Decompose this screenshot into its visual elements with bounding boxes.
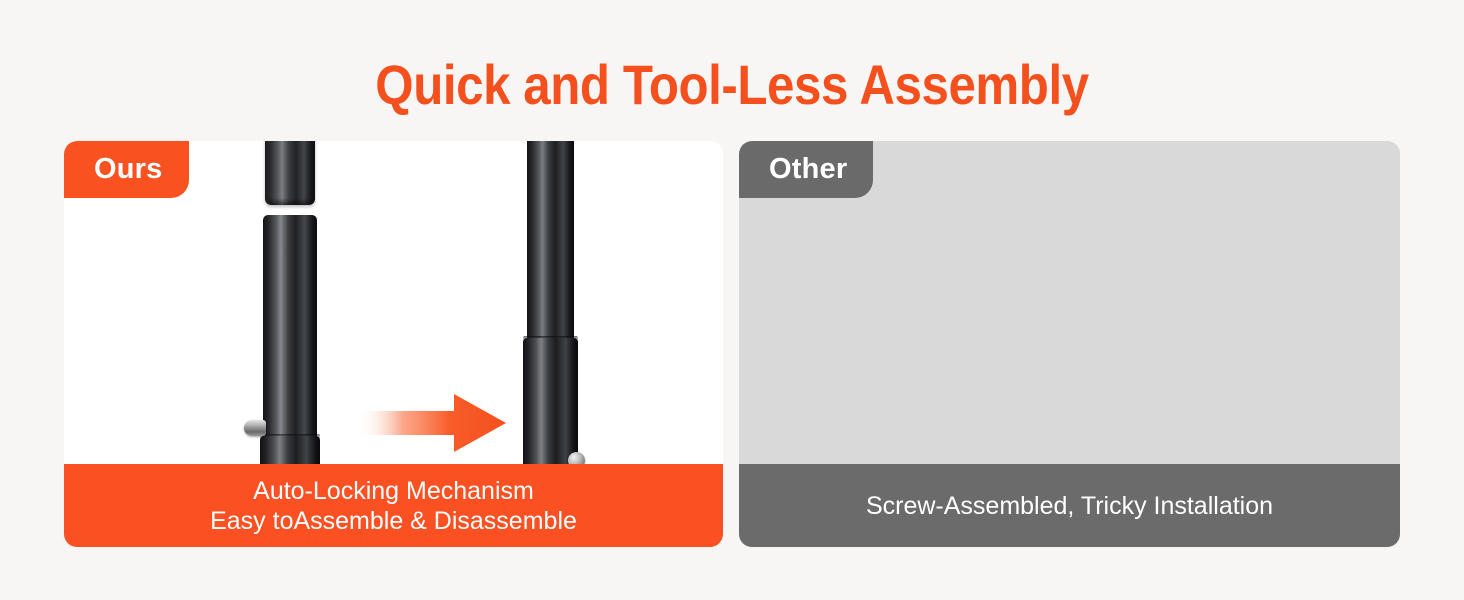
caption-ours-line-2: Easy toAssemble & Disassemble xyxy=(210,506,577,536)
page-title: Quick and Tool-Less Assembly xyxy=(88,54,1376,116)
assembled-upper-tube xyxy=(527,141,574,340)
comparison-infographic: Quick and Tool-Less Assembly xyxy=(0,0,1464,600)
spring-pin-icon xyxy=(244,420,266,436)
caption-other: Screw-Assembled, Tricky Installation xyxy=(739,464,1400,547)
caption-other-line-1: Screw-Assembled, Tricky Installation xyxy=(866,491,1273,521)
panel-ours: Ours Auto-Locking Mechanism Easy toAssem… xyxy=(64,141,723,547)
arrow-right-icon xyxy=(358,392,506,454)
caption-ours-line-1: Auto-Locking Mechanism xyxy=(253,476,534,506)
lower-tube-disassembled xyxy=(263,215,317,465)
badge-other: Other xyxy=(739,141,873,198)
panel-other: Other Screw-Assembled, Tricky Installati… xyxy=(739,141,1400,547)
badge-ours: Ours xyxy=(64,141,189,198)
caption-ours: Auto-Locking Mechanism Easy toAssemble &… xyxy=(64,464,723,547)
detached-upper-tube xyxy=(265,141,315,205)
